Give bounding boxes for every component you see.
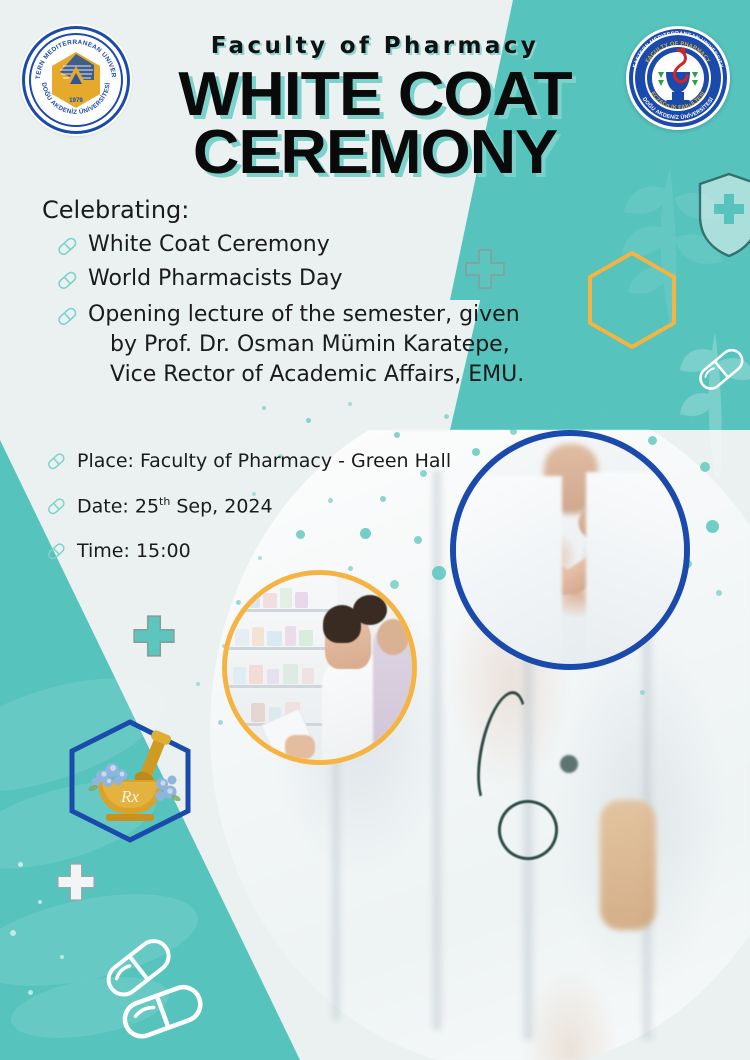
list-item: World Pharmacists Day [55, 264, 535, 294]
decor-dot [218, 720, 223, 725]
medical-cross-icon [56, 862, 96, 902]
decor-dot [196, 682, 200, 686]
white-coat-panel [586, 472, 690, 670]
capsule-bullet-icon [45, 495, 67, 517]
decor-dot [690, 418, 695, 423]
detail-time-label: Time: 15:00 [77, 540, 191, 562]
page-kicker: Faculty of Pharmacy [0, 33, 750, 59]
page-title-line2: CEREMONY [0, 124, 750, 182]
decor-dot [648, 436, 657, 445]
decor-dot [262, 406, 266, 410]
shield-cross-watermark-icon [694, 170, 750, 260]
celebrating-label: Celebrating: [42, 196, 189, 224]
detail-date: Date: 25th Sep, 2024 [45, 495, 515, 517]
pharmacists-at-shelves-photo [222, 570, 417, 765]
decor-dot [600, 408, 605, 413]
capsule-bullet-icon [45, 450, 67, 472]
decor-dot [700, 462, 710, 472]
speck [10, 930, 16, 936]
speck [28, 990, 33, 995]
decor-dot [348, 402, 352, 406]
detail-date-prefix: Date: 25 [77, 495, 159, 517]
bag-strap [600, 800, 656, 930]
page-title: WHITE COAT CEREMONY [0, 66, 750, 182]
decor-dot [706, 520, 719, 533]
list-item: Opening lecture of the semester, given b… [55, 300, 535, 390]
list-item-label: World Pharmacists Day [88, 264, 343, 294]
hair [323, 605, 361, 643]
detail-date-label: Date: 25th Sep, 2024 [77, 495, 273, 517]
stethoscope-bell [560, 755, 578, 773]
list-item: White Coat Ceremony [55, 230, 535, 260]
lecture-line-1: Opening lecture of the semester, given [88, 302, 520, 327]
capsule-bullet-icon [45, 540, 67, 562]
decor-dot [716, 590, 722, 596]
decor-dot [394, 432, 400, 438]
orange-hexagon-outline [586, 250, 678, 350]
decor-dot [556, 410, 560, 414]
detail-place-label: Place: Faculty of Pharmacy - Green Hall [77, 450, 451, 472]
capsule-bullet-icon [55, 268, 79, 292]
lecture-line-3: Vice Rector of Academic Affairs, EMU. [88, 360, 524, 390]
decor-dot [510, 428, 517, 435]
capsule-outline-icon [692, 340, 750, 398]
decor-dot [640, 690, 645, 695]
detail-date-ordinal: th [159, 495, 170, 508]
event-details: Place: Faculty of Pharmacy - Green Hall … [45, 450, 515, 585]
speck [38, 900, 42, 904]
detail-date-suffix: Sep, 2024 [170, 495, 272, 517]
lecture-line-2: by Prof. Dr. Osman Mümin Karatepe, [88, 330, 524, 360]
two-capsules-icon [92, 925, 222, 1050]
capsule-bullet-icon [55, 304, 79, 328]
medical-cross-icon [132, 614, 176, 658]
celebrating-list: White Coat Ceremony World Pharmacists Da… [55, 230, 535, 394]
detail-time: Time: 15:00 [45, 540, 515, 562]
poster-canvas: EASTERN MEDITERRANEAN UNIVERSITY DOĞU AK… [0, 0, 750, 1060]
rx-monogram: Rx [120, 787, 139, 806]
detail-place: Place: Faculty of Pharmacy - Green Hall [45, 450, 515, 472]
second-person-face [377, 619, 409, 655]
capsule-bullet-icon [55, 234, 79, 258]
list-item-label: Opening lecture of the semester, given b… [88, 300, 524, 390]
medical-cross-icon [464, 248, 506, 290]
hand [285, 735, 315, 759]
speck [60, 955, 64, 959]
speck [18, 862, 23, 867]
decor-dot [306, 418, 311, 423]
decor-dot [444, 414, 449, 419]
rx-mortar-hexagon-badge: Rx [62, 718, 198, 844]
list-item-label: White Coat Ceremony [88, 230, 330, 260]
